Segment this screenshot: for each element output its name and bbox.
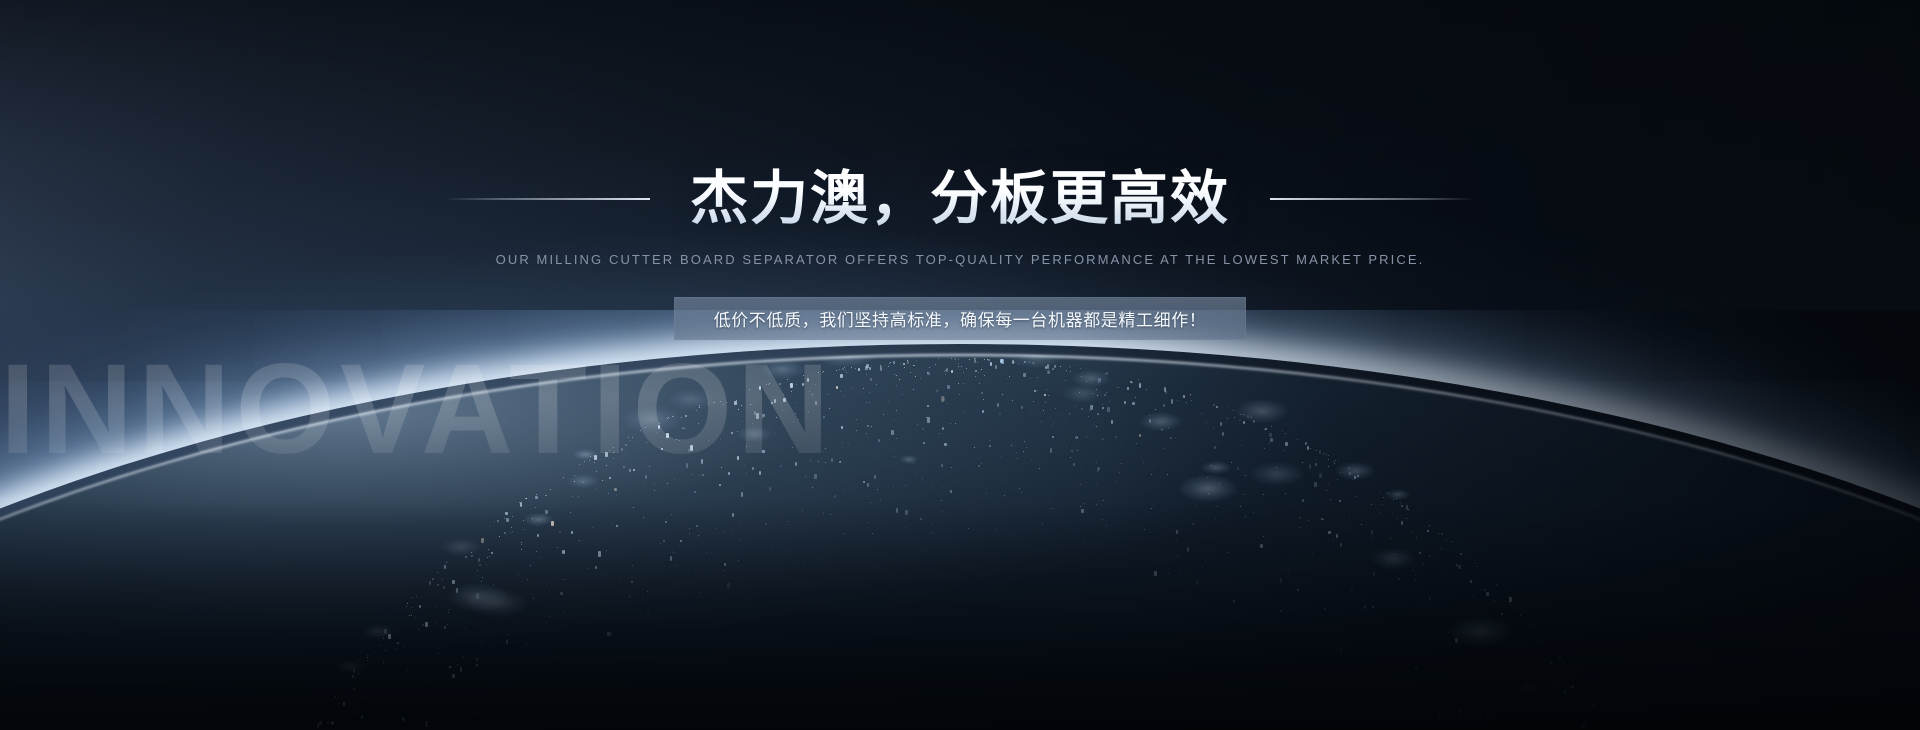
- earth-horizon: [0, 310, 1920, 730]
- subtitle-english: OUR MILLING CUTTER BOARD SEPARATOR OFFER…: [0, 252, 1920, 267]
- title-rule-right: [1270, 198, 1475, 200]
- tagline-bar: 低价不低质，我们坚持高标准，确保每一台机器都是精工细作！: [674, 297, 1246, 340]
- title-rule-left: [445, 198, 650, 200]
- page-title: 杰力澳，分板更高效: [690, 167, 1230, 232]
- tagline-text: 低价不低质，我们坚持高标准，确保每一台机器都是精工细作！: [714, 306, 1207, 331]
- earth-bottom-shadow: [0, 500, 1920, 730]
- hero-banner: INNOVATION 杰力澳，分板更高效 OUR MILLING CUTTER …: [0, 0, 1920, 730]
- title-row: 杰力澳，分板更高效: [0, 128, 1920, 271]
